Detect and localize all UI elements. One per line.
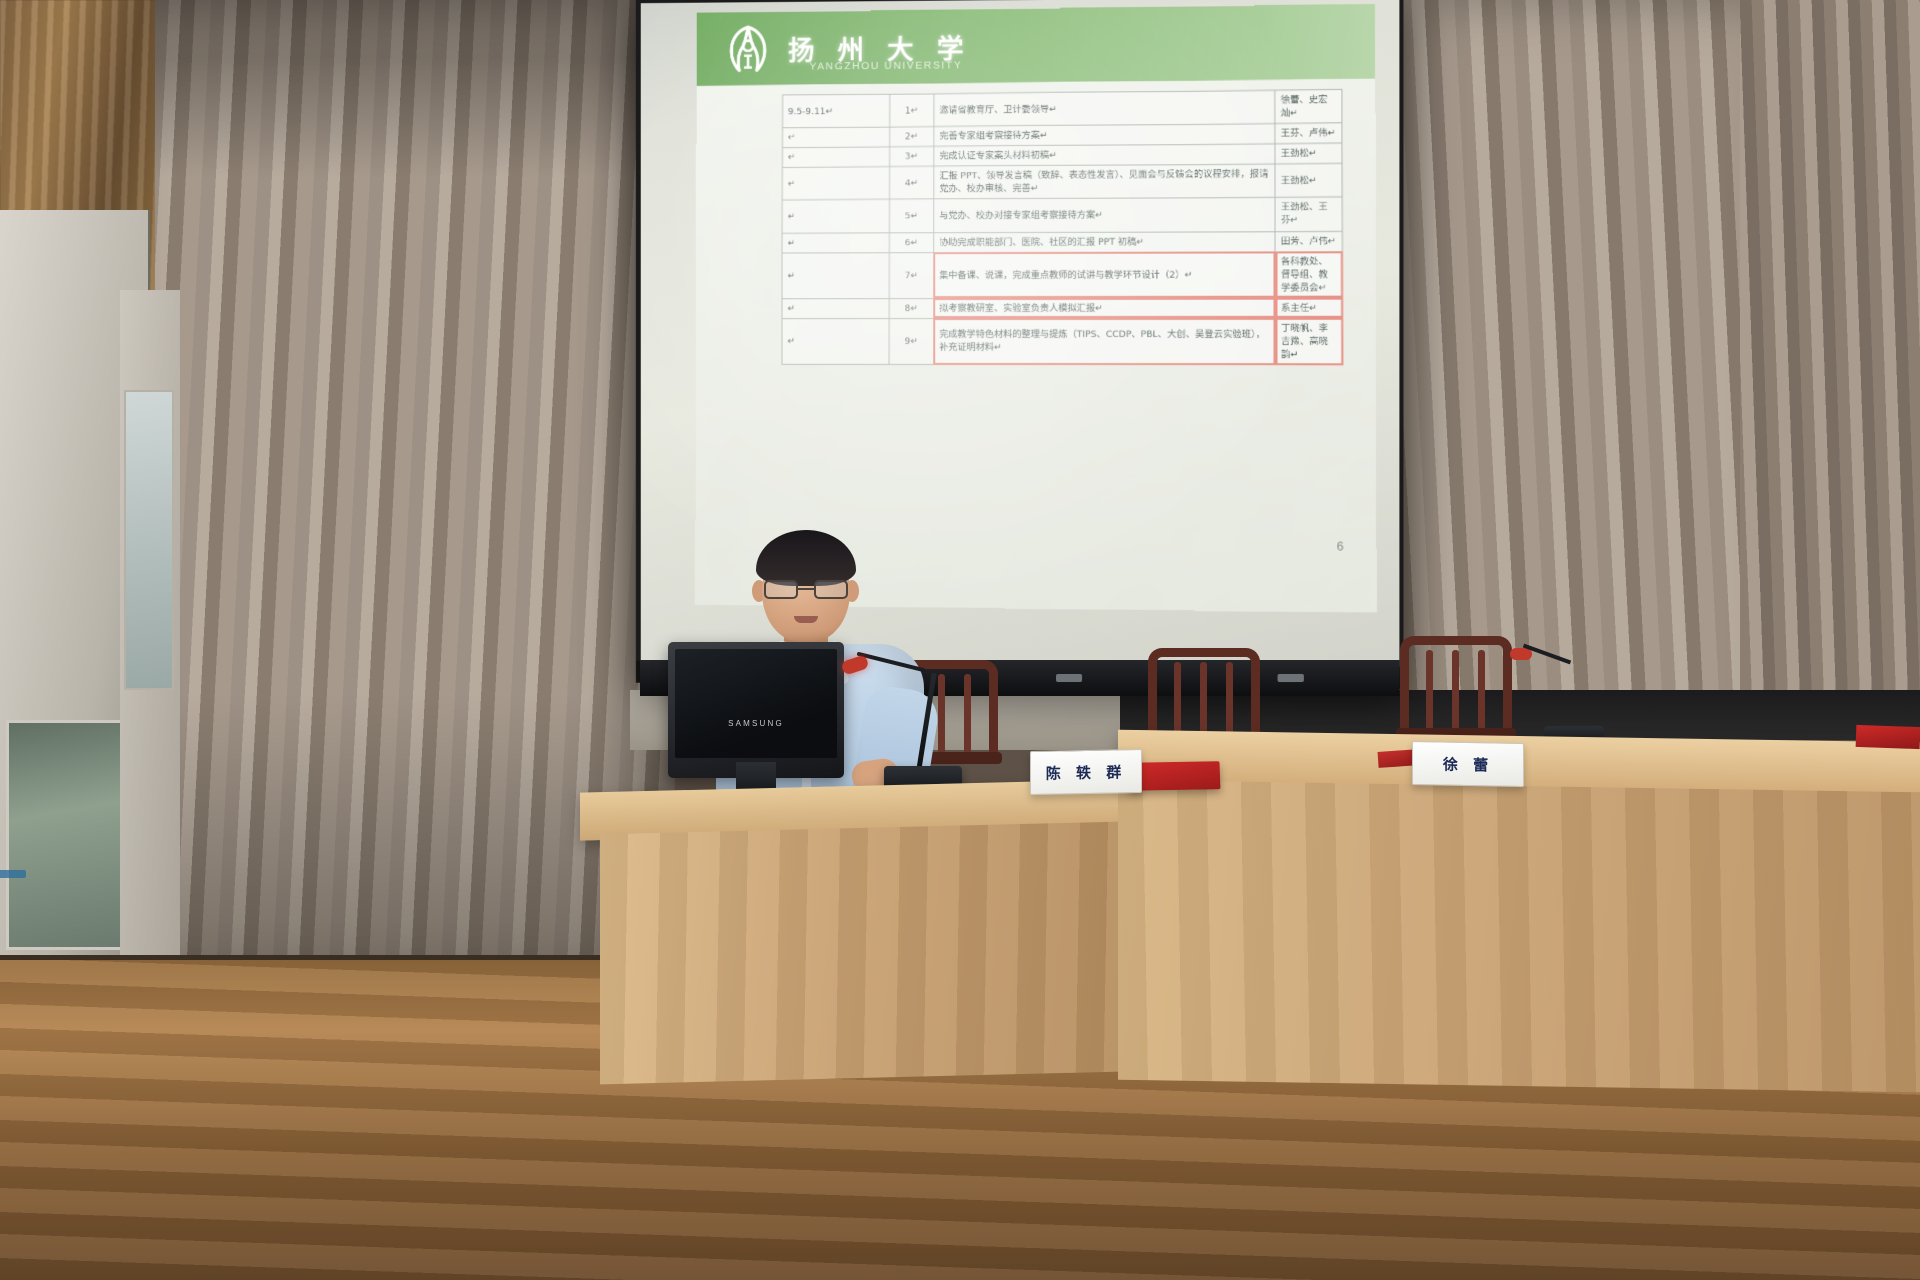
chair-slat <box>964 674 971 756</box>
table-row: ↵8↵拟考察教研室、实验室负责人模拟汇报↵系主任↵ <box>782 298 1342 319</box>
cell-task: 完善专家组考察接待方案↵ <box>934 124 1275 147</box>
cell-date: ↵ <box>782 200 889 233</box>
nameplate-1: 陈 轶 群 <box>1030 749 1142 795</box>
cell-task: 完成教学特色材料的整理与提炼（TIPS、CCDP、PBL、大创、吴登云实验班），… <box>934 318 1276 365</box>
cell-task: 邀请省教育厅、卫计委领导↵ <box>934 90 1275 126</box>
schedule-table: 9.5-9.11↵1↵邀请省教育厅、卫计委领导↵徐蕾、史宏灿↵↵2↵完善专家组考… <box>782 89 1344 365</box>
slide-table-wrap: 9.5-9.11↵1↵邀请省教育厅、卫计委领导↵徐蕾、史宏灿↵↵2↵完善专家组考… <box>696 79 1376 366</box>
cell-owners: 丁晓帆、李吉豫、高晓韵↵ <box>1275 318 1342 365</box>
front-desk-right-panel <box>1118 780 1920 1093</box>
side-wall-glass <box>124 390 174 690</box>
red-folder-3[interactable] <box>1856 725 1920 749</box>
cell-number: 2↵ <box>889 127 934 147</box>
table-row: ↵6↵协助完成职能部门、医院、社区的汇报 PPT 初稿↵田芳、卢伟↵ <box>782 231 1342 253</box>
cell-date: ↵ <box>782 233 889 253</box>
chair-slat <box>1426 650 1433 732</box>
cell-date: ↵ <box>782 167 889 200</box>
cell-task: 协助完成职能部门、医院、社区的汇报 PPT 初稿↵ <box>934 231 1275 252</box>
chair-slat <box>1478 650 1485 732</box>
cell-task: 与党办、校办对接专家组考察接待方案↵ <box>934 198 1275 233</box>
speaker-glasses <box>762 580 852 600</box>
cell-number: 1↵ <box>889 94 934 127</box>
cell-number: 6↵ <box>889 232 934 252</box>
glasses-bridge <box>798 588 814 590</box>
cell-number: 4↵ <box>889 167 934 200</box>
monitor-display <box>675 649 837 758</box>
cell-owners: 王劲松、王芬↵ <box>1275 197 1342 231</box>
speaker-mouth <box>794 616 818 623</box>
cell-date: ↵ <box>782 147 889 168</box>
cell-owners: 各科教处、督导组、教学委员会↵ <box>1275 251 1342 298</box>
table-row: ↵7↵集中备课、说课，完成重点教师的试讲与教学环节设计（2）↵各科教处、督导组、… <box>782 251 1342 298</box>
wall-green-panel <box>6 720 130 950</box>
mount-vent-3 <box>1278 674 1304 682</box>
cell-owners: 徐蕾、史宏灿↵ <box>1275 90 1342 124</box>
yangzhou-university-emblem-icon <box>726 24 771 74</box>
curtain-far-right <box>1740 0 1920 700</box>
cell-number: 5↵ <box>889 199 934 232</box>
chair-slat <box>1452 650 1459 732</box>
cell-date: ↵ <box>782 253 889 299</box>
slide-header: 扬 州 大 学 YANGZHOU UNIVERSITY <box>696 4 1375 86</box>
cell-owners: 系主任↵ <box>1275 298 1342 318</box>
table-row: ↵5↵与党办、校办对接专家组考察接待方案↵王劲松、王芬↵ <box>782 197 1342 233</box>
cell-task: 完成认证专家案头材料初稿↵ <box>934 144 1275 167</box>
cell-date: ↵ <box>782 298 889 318</box>
cell-number: 9↵ <box>889 318 934 364</box>
cell-owners: 王芬、卢伟↵ <box>1275 123 1342 144</box>
table-row: 9.5-9.11↵1↵邀请省教育厅、卫计委领导↵徐蕾、史宏灿↵ <box>783 90 1343 128</box>
mount-vent-2 <box>1056 674 1082 682</box>
cell-number: 8↵ <box>889 298 934 318</box>
nameplate-2: 徐 蕾 <box>1412 741 1524 787</box>
glasses-lens-left <box>764 580 798 599</box>
cell-number: 3↵ <box>889 147 934 167</box>
cell-task: 汇报 PPT、领导发言稿（致辞、表态性发言）、见面会与反馈会的议程安排，报请党办… <box>934 164 1275 199</box>
cell-task: 拟考察教研室、实验室负责人模拟汇报↵ <box>934 298 1276 318</box>
cell-number: 7↵ <box>889 252 934 298</box>
university-name-en: YANGZHOU UNIVERSITY <box>810 59 963 73</box>
cell-owners: 王劲松↵ <box>1275 143 1342 164</box>
table-row: ↵4↵汇报 PPT、领导发言稿（致辞、表态性发言）、见面会与反馈会的议程安排，报… <box>782 164 1342 201</box>
speaker-hair <box>756 530 856 586</box>
lecture-hall-scene: 扬 州 大 学 YANGZHOU UNIVERSITY 9.5-9.11↵1↵邀… <box>0 0 1920 1280</box>
nameplate-2-text: 徐 蕾 <box>1443 753 1493 775</box>
monitor-brand-label: SAMSUNG <box>728 719 784 728</box>
cell-date: 9.5-9.11↵ <box>783 94 890 128</box>
table-row: ↵9↵完成教学特色材料的整理与提炼（TIPS、CCDP、PBL、大创、吴登云实验… <box>782 318 1343 365</box>
curtain-left <box>155 0 675 990</box>
cell-task: 集中备课、说课，完成重点教师的试讲与教学环节设计（2）↵ <box>934 251 1276 298</box>
cell-owners: 田芳、卢伟↵ <box>1275 231 1342 252</box>
nameplate-1-text: 陈 轶 群 <box>1046 761 1126 783</box>
presentation-slide: 扬 州 大 学 YANGZHOU UNIVERSITY 9.5-9.11↵1↵邀… <box>695 4 1377 613</box>
glasses-lens-right <box>814 580 848 599</box>
cell-date: ↵ <box>782 127 889 148</box>
wall-blue-indicator <box>0 870 26 878</box>
cell-owners: 王劲松↵ <box>1275 164 1342 198</box>
front-desk-left-panel <box>600 822 1120 1085</box>
monitor-bezel: SAMSUNG <box>668 642 844 778</box>
cell-date: ↵ <box>782 318 889 364</box>
slide-page-number: 6 <box>1337 539 1344 553</box>
chair-3 <box>1400 636 1512 746</box>
